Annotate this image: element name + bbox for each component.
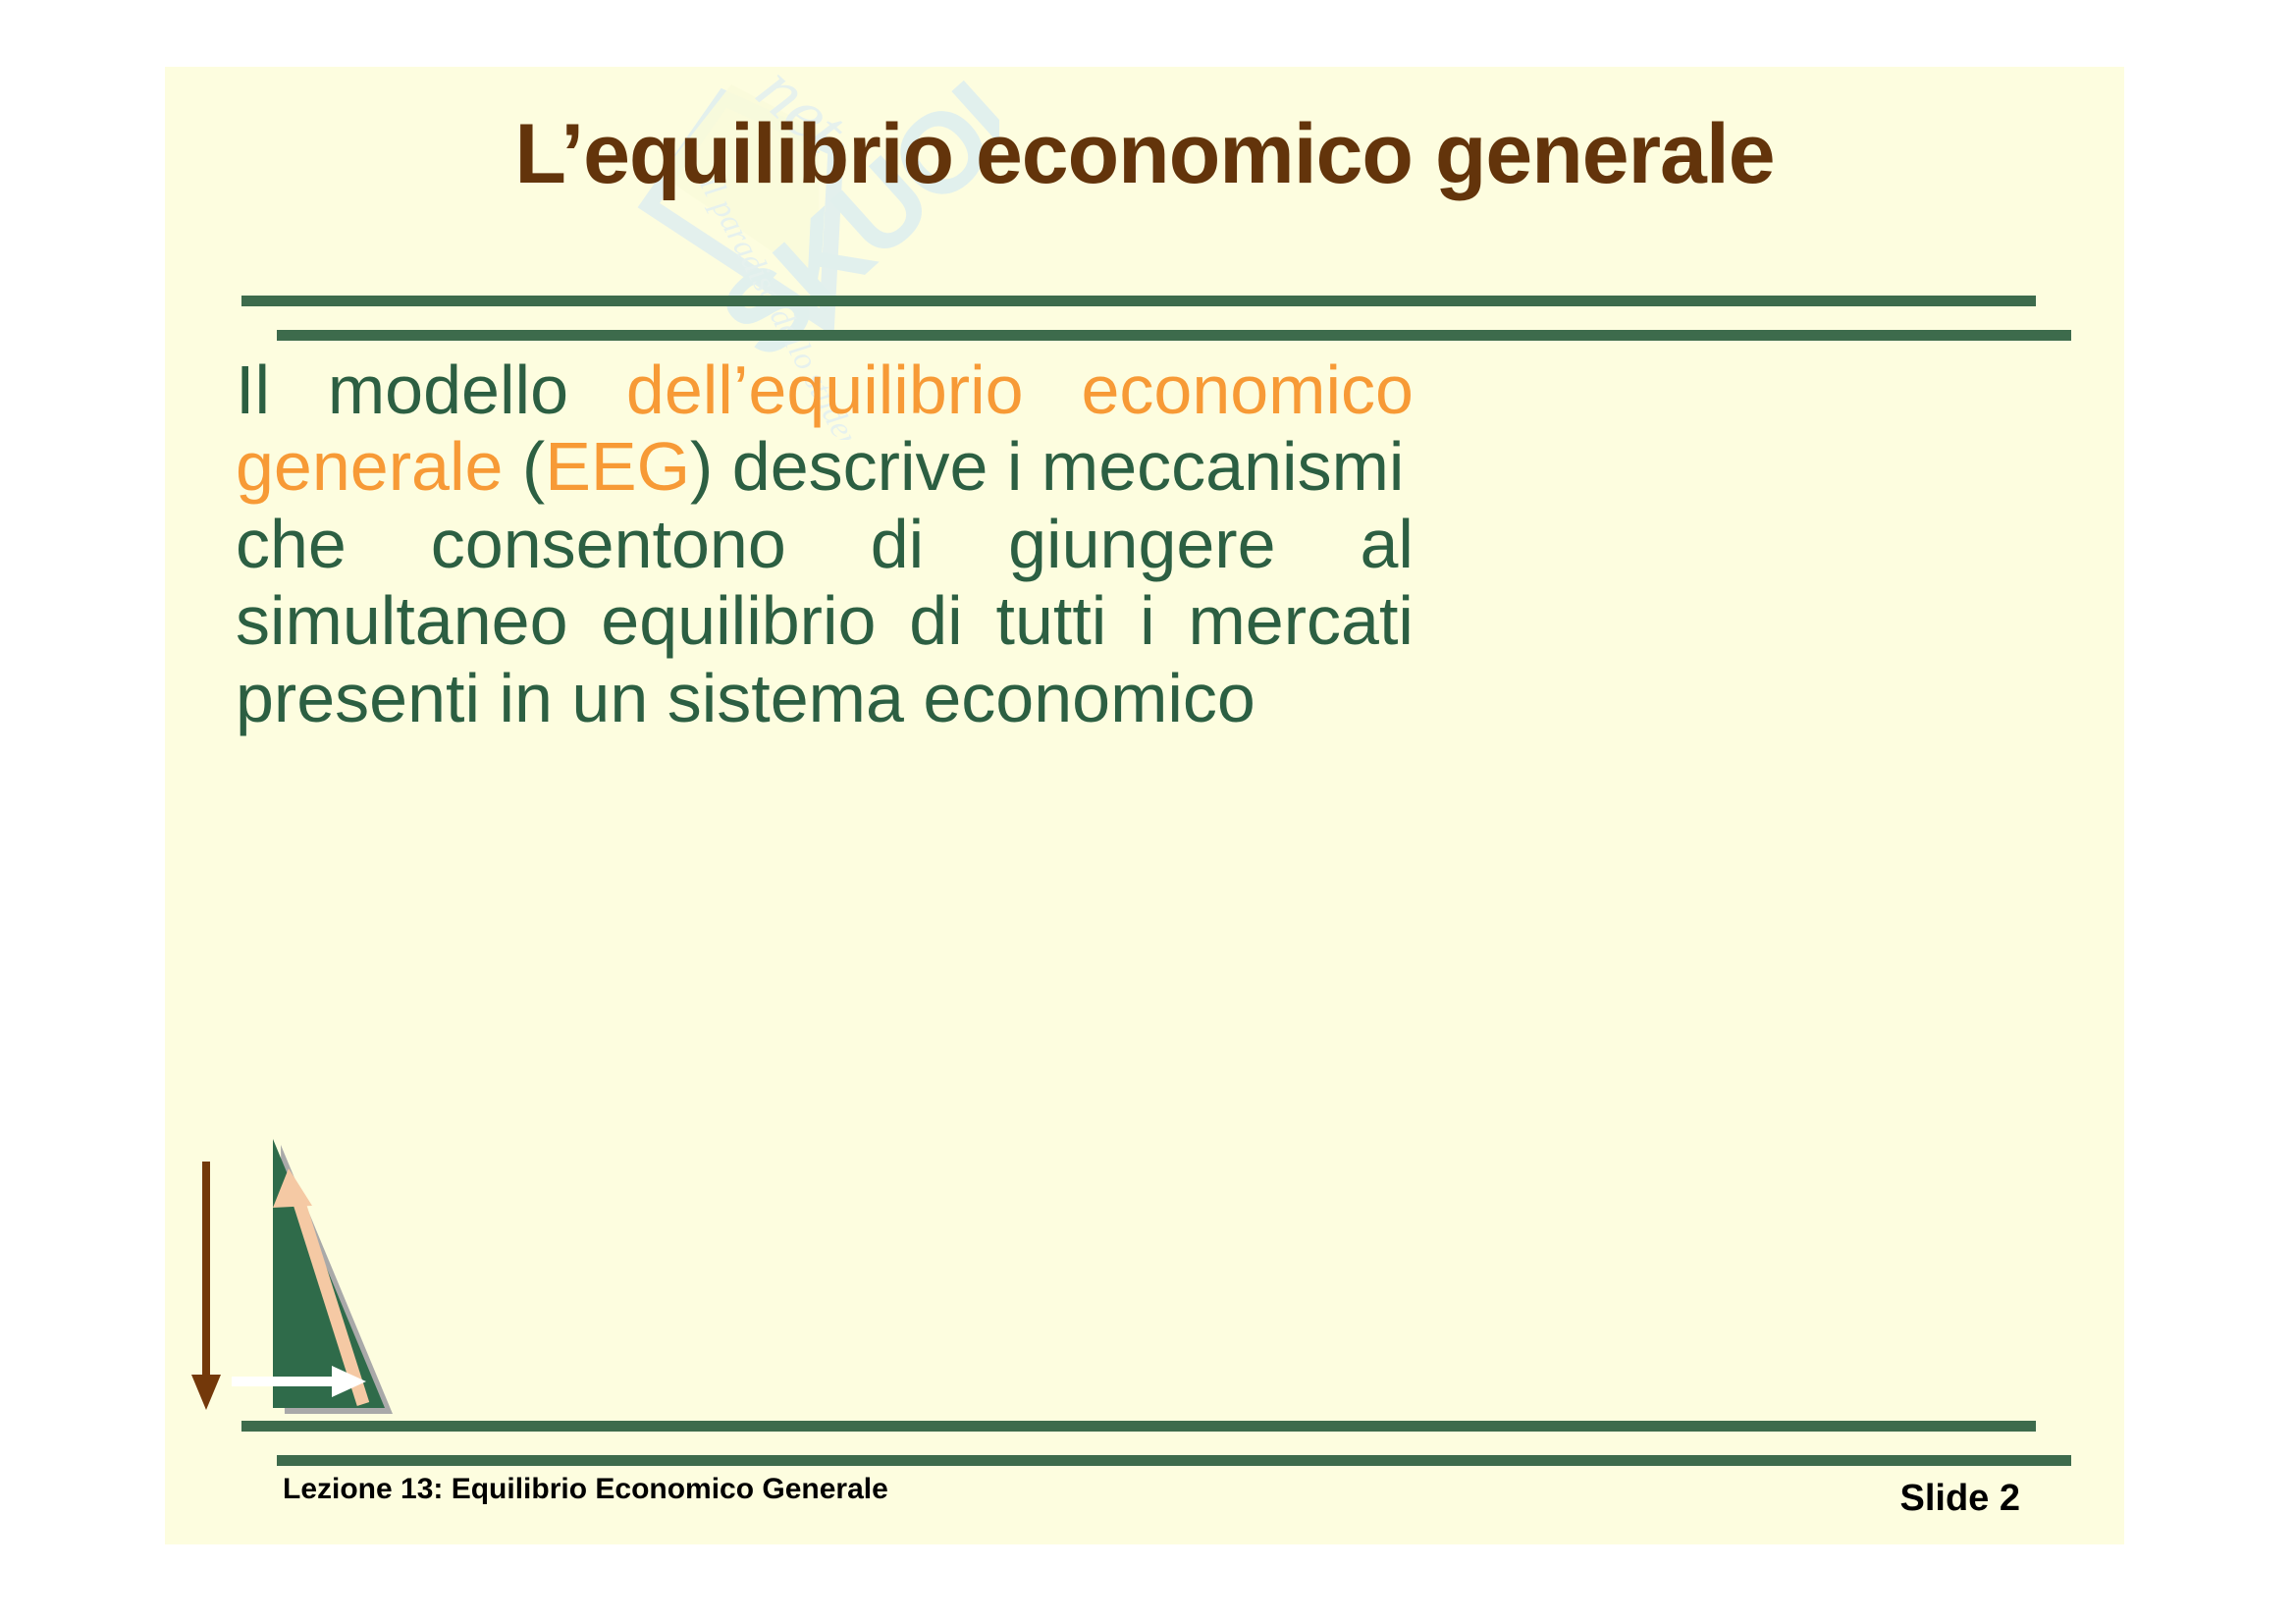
slide-number-label: Slide 2: [1900, 1478, 2021, 1520]
body-word: al: [1360, 506, 1413, 582]
body-paren-open: [503, 428, 521, 505]
body-word: mercati: [1188, 582, 1413, 659]
slide-title: L’equilibrio economico generale: [165, 106, 2124, 203]
body-word: Il: [236, 352, 270, 428]
body-word-highlight: economico: [1081, 352, 1414, 428]
body-word: simultaneo: [236, 582, 568, 659]
body-line-1: Il modello dell’equilibrio economico: [236, 352, 1414, 428]
body-word-highlight: dell’equilibrio: [626, 352, 1024, 428]
body-line-2: generale (EEG) descrive i meccanismi: [236, 428, 1414, 505]
body-word: che: [236, 506, 347, 582]
body-word: giungere: [1008, 506, 1275, 582]
slide-body: Il modello dell’equilibrio economico gen…: [236, 352, 1414, 736]
body-word: modello: [328, 352, 568, 428]
title-rule-top: [241, 296, 2036, 306]
title-rule-bottom: [277, 330, 2071, 341]
body-word: consentono: [431, 506, 786, 582]
body-line-3: che consentono di giungere al: [236, 506, 1414, 582]
down-arrow: [191, 1162, 221, 1410]
footer-rule-bottom: [277, 1455, 2071, 1466]
body-word: di: [871, 506, 924, 582]
body-paren-open-glyph: (: [522, 428, 545, 505]
body-line-4: simultaneo equilibrio di tutti i mercati: [236, 582, 1414, 659]
body-word: equilibrio: [601, 582, 876, 659]
body-word: tutti: [996, 582, 1107, 659]
decoration-group: [165, 1058, 440, 1422]
body-acronym: EEG: [545, 428, 690, 505]
footer-lecture-label: Lezione 13: Equilibrio Economico General…: [283, 1473, 888, 1506]
body-word: di: [909, 582, 962, 659]
body-line-5: presenti in un sistema economico: [236, 660, 1414, 736]
body-word-highlight: generale: [236, 428, 503, 505]
body-line-2-tail: ) descrive i meccanismi: [690, 428, 1404, 505]
footer-rule-top: [241, 1421, 2036, 1432]
slide-canvas: SKUOLA net il paradiso dello studente L’…: [165, 67, 2124, 1544]
body-word: i: [1140, 582, 1155, 659]
